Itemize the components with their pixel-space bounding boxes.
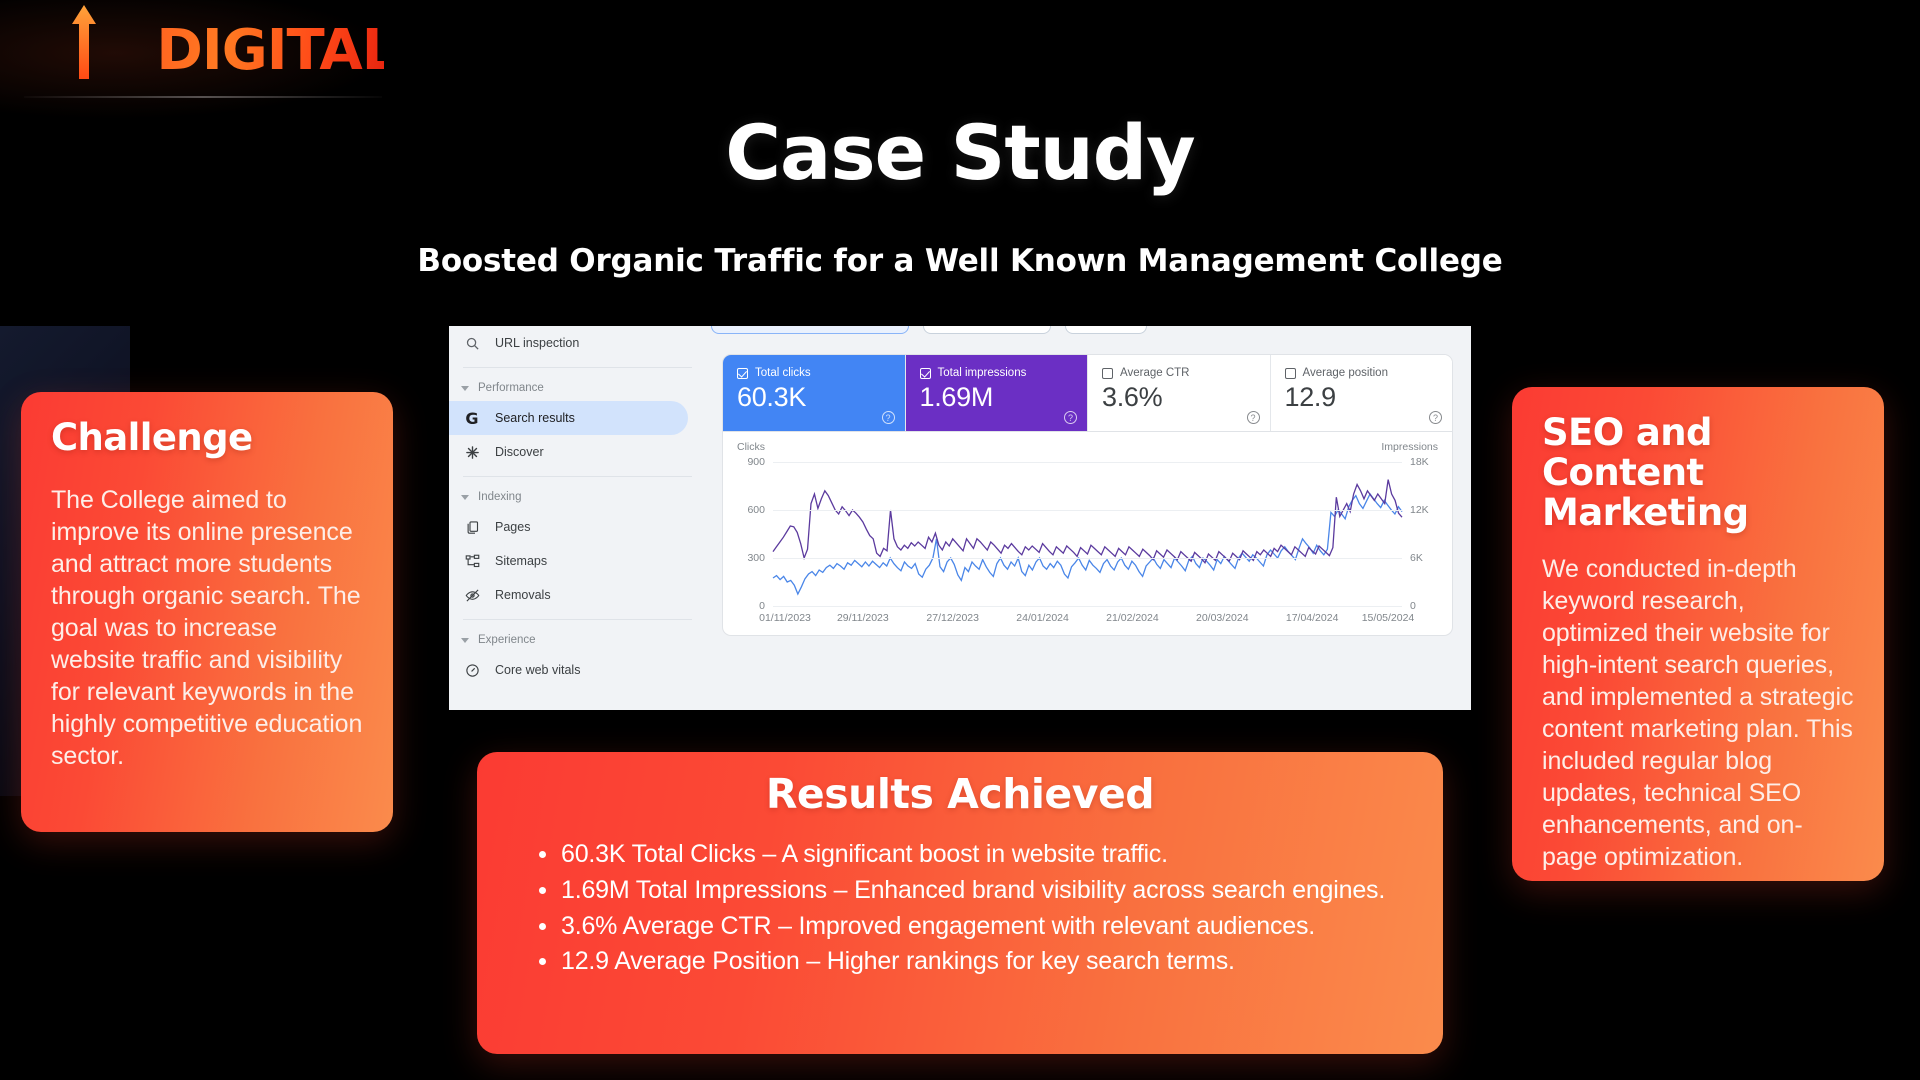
gauge-icon	[463, 661, 481, 679]
search-console-screenshot: URL inspection Performance G Search resu…	[449, 326, 1471, 710]
metric-label: Total clicks	[755, 367, 811, 379]
x-axis-tick: 27/12/2023	[926, 612, 979, 624]
sidebar-item-url-inspection[interactable]: URL inspection	[449, 326, 704, 360]
sitemap-icon	[463, 552, 481, 570]
results-achieved-card: Results Achieved 60.3K Total Clicks – A …	[477, 752, 1443, 1054]
challenge-card-title: Challenge	[51, 418, 365, 458]
sidebar-item-label: Removals	[495, 588, 551, 602]
sidebar-divider-1	[463, 367, 692, 368]
metric-value: 12.9	[1285, 382, 1439, 413]
results-card-title: Results Achieved	[517, 770, 1403, 818]
help-icon[interactable]: ?	[1247, 411, 1260, 424]
y-axis-tick-left: 600	[747, 504, 765, 516]
brand-logo-9: 9	[100, 18, 138, 83]
checkbox-icon[interactable]	[920, 368, 931, 379]
sidebar-item-label: Search results	[495, 411, 575, 425]
metric-card-average-position[interactable]: Average position 12.9 ?	[1271, 355, 1453, 431]
sidebar-group-indexing[interactable]: Indexing	[449, 484, 704, 510]
brand-logo-8: 8	[24, 18, 62, 83]
y-axis-right-label: Impressions	[1381, 441, 1438, 453]
list-item: 60.3K Total Clicks – A significant boost…	[539, 838, 1403, 871]
metric-card-total-impressions[interactable]: Total impressions 1.69M ?	[906, 355, 1089, 431]
sidebar-item-label: Sitemaps	[495, 554, 547, 568]
y-axis-left-label: Clicks	[737, 441, 765, 453]
pages-icon	[463, 518, 481, 536]
y-axis-tick-right: 6K	[1410, 552, 1423, 564]
chevron-down-icon	[461, 495, 469, 500]
y-axis-tick-right: 12K	[1410, 504, 1429, 516]
sidebar-item-sitemaps[interactable]: Sitemaps	[449, 544, 704, 578]
sidebar-item-search-results[interactable]: G Search results	[449, 401, 688, 435]
help-icon[interactable]: ?	[1064, 411, 1077, 424]
brand-logo-text: 819 DIGITAL	[24, 14, 384, 88]
sidebar-divider-3	[463, 619, 692, 620]
sidebar-divider-2	[463, 476, 692, 477]
challenge-card: Challenge The College aimed to improve i…	[21, 392, 393, 832]
sidebar-item-removals[interactable]: Removals	[449, 578, 704, 612]
metric-label: Average CTR	[1120, 367, 1189, 379]
x-axis-tick: 01/11/2023	[759, 612, 811, 624]
checkbox-icon[interactable]	[1285, 368, 1296, 379]
sidebar-item-label: Pages	[495, 520, 530, 534]
x-axis-tick: 29/11/2023	[837, 612, 889, 624]
metric-label-row: Average position	[1285, 367, 1439, 379]
y-axis-tick-left: 900	[747, 456, 765, 468]
sidebar-item-discover[interactable]: Discover	[449, 435, 704, 469]
y-axis-tick-right: 0	[1410, 600, 1416, 612]
sidebar-group-experience[interactable]: Experience	[449, 627, 704, 653]
chevron-down-icon	[461, 638, 469, 643]
chevron-down-icon	[461, 386, 469, 391]
x-axis-tick: 17/04/2024	[1286, 612, 1339, 624]
metric-label: Average position	[1303, 367, 1388, 379]
results-list: 60.3K Total Clicks – A significant boost…	[517, 838, 1403, 978]
x-axis-tick: 15/05/2024	[1362, 612, 1415, 624]
help-icon[interactable]: ?	[1429, 411, 1442, 424]
gridline	[773, 510, 1402, 511]
checkbox-icon[interactable]	[1102, 368, 1113, 379]
sidebar-group-label: Performance	[478, 382, 544, 394]
gridline	[773, 558, 1402, 559]
seo-card-body: We conducted in-depth keyword research, …	[1542, 553, 1856, 873]
metric-card-average-ctr[interactable]: Average CTR 3.6% ?	[1088, 355, 1271, 431]
sidebar-item-label: Core web vitals	[495, 663, 580, 677]
x-axis-tick: 21/02/2024	[1106, 612, 1159, 624]
sidebar-item-label: URL inspection	[495, 336, 579, 350]
eye-off-icon	[463, 586, 481, 604]
search-icon	[463, 334, 481, 352]
metric-label-row: Total clicks	[737, 367, 891, 379]
seo-card-title: SEO and Content Marketing	[1542, 413, 1856, 533]
chart-plot-area: 003006K60012K90018K01/11/202329/11/20232…	[773, 462, 1402, 606]
page-subtitle: Boosted Organic Traffic for a Well Known…	[0, 243, 1920, 279]
gridline	[773, 606, 1402, 607]
up-arrow-icon	[71, 5, 97, 79]
sidebar-item-pages[interactable]: Pages	[449, 510, 704, 544]
brand-logo: 819 DIGITAL	[24, 14, 384, 118]
brand-logo-digits: 819	[24, 14, 138, 88]
list-item: 3.6% Average CTR – Improved engagement w…	[539, 910, 1403, 943]
challenge-card-body: The College aimed to improve its online …	[51, 484, 365, 772]
metric-value: 1.69M	[920, 382, 1074, 413]
brand-logo-word: DIGITAL	[156, 18, 396, 83]
chart-series-impressions	[773, 480, 1402, 563]
page-title: Case Study	[0, 108, 1920, 197]
x-axis-tick: 24/01/2024	[1016, 612, 1069, 624]
checkbox-icon[interactable]	[737, 368, 748, 379]
seo-content-marketing-card: SEO and Content Marketing We conducted i…	[1512, 387, 1884, 881]
gsc-main-content: Total clicks 60.3K ? Total impressions 1…	[704, 326, 1471, 710]
help-icon[interactable]: ?	[882, 411, 895, 424]
list-item: 1.69M Total Impressions – Enhanced brand…	[539, 874, 1403, 907]
metric-card-total-clicks[interactable]: Total clicks 60.3K ?	[723, 355, 906, 431]
metric-label-row: Total impressions	[920, 367, 1074, 379]
sidebar-group-label: Experience	[478, 634, 536, 646]
metric-card-row: Total clicks 60.3K ? Total impressions 1…	[722, 354, 1453, 432]
asterisk-icon	[463, 443, 481, 461]
chart-lines	[773, 462, 1402, 606]
gsc-sidebar: URL inspection Performance G Search resu…	[449, 326, 704, 710]
y-axis-tick-left: 0	[759, 600, 765, 612]
logo-underline	[24, 96, 382, 98]
sidebar-group-performance[interactable]: Performance	[449, 375, 704, 401]
chart-series-clicks	[773, 494, 1402, 594]
metric-label-row: Average CTR	[1102, 367, 1256, 379]
google-g-icon: G	[463, 409, 481, 427]
sidebar-group-label: Indexing	[478, 491, 521, 503]
metric-value: 3.6%	[1102, 382, 1256, 413]
y-axis-tick-right: 18K	[1410, 456, 1429, 468]
y-axis-tick-left: 300	[747, 552, 765, 564]
metric-value: 60.3K	[737, 382, 891, 413]
x-axis-tick: 20/03/2024	[1196, 612, 1249, 624]
list-item: 12.9 Average Position – Higher rankings …	[539, 945, 1403, 978]
sidebar-item-label: Discover	[495, 445, 544, 459]
performance-chart: Clicks Impressions 003006K60012K90018K01…	[722, 432, 1453, 636]
gridline	[773, 462, 1402, 463]
sidebar-item-core-web-vitals[interactable]: Core web vitals	[449, 653, 704, 687]
metric-label: Total impressions	[938, 367, 1027, 379]
